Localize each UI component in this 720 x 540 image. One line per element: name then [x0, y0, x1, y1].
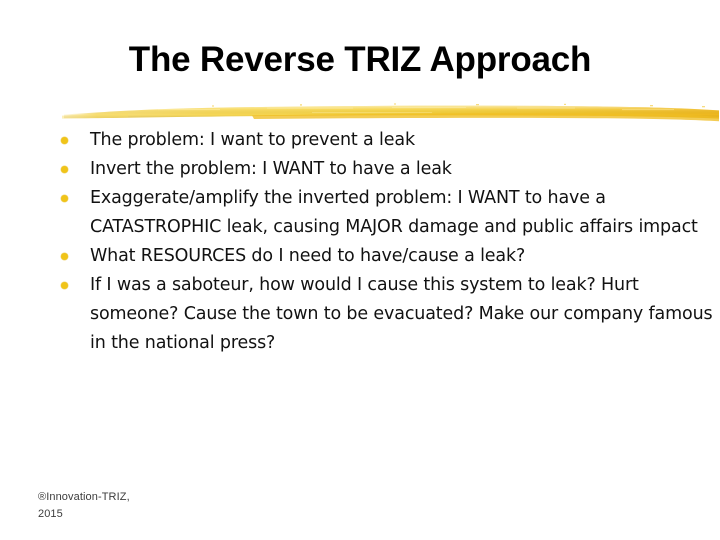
page-title: The Reverse TRIZ Approach	[0, 40, 720, 80]
footer-year-line: 2015	[38, 506, 130, 523]
list-item-label: If I was a saboteur, how would I cause t…	[90, 271, 713, 358]
list-item: Invert the problem: I WANT to have a lea…	[58, 155, 713, 184]
list-item: Exaggerate/amplify the inverted problem:…	[58, 184, 713, 242]
brush-spatter	[212, 103, 705, 107]
brush-stroke-icon	[62, 100, 720, 126]
slide-canvas: The Reverse TRIZ Approach	[0, 0, 720, 540]
brush-stroke-divider	[62, 100, 720, 126]
brush-streaks	[158, 107, 674, 113]
brush-left-feather	[62, 113, 128, 119]
list-item-label: What RESOURCES do I need to have/cause a…	[90, 242, 713, 271]
list-item: What RESOURCES do I need to have/cause a…	[58, 242, 713, 271]
footer-copyright-line: ®Innovation-TRIZ,	[38, 489, 130, 506]
bullet-dot-icon	[61, 195, 68, 202]
list-item-label: Invert the problem: I WANT to have a lea…	[90, 155, 713, 184]
brush-shading	[64, 106, 719, 119]
list-item: If I was a saboteur, how would I cause t…	[58, 271, 713, 358]
bullet-dot-icon	[61, 166, 68, 173]
brush-body	[64, 106, 719, 119]
slide-footer: ®Innovation-TRIZ, 2015	[38, 489, 130, 523]
list-item-label: Exaggerate/amplify the inverted problem:…	[90, 184, 713, 242]
bullet-dot-icon	[61, 137, 68, 144]
brush-lower-ridge	[252, 113, 719, 121]
bullet-dot-icon	[61, 282, 68, 289]
bullet-list: The problem: I want to prevent a leak In…	[58, 126, 713, 358]
bullet-dot-icon	[61, 253, 68, 260]
list-item-label: The problem: I want to prevent a leak	[90, 126, 713, 155]
list-item: The problem: I want to prevent a leak	[58, 126, 713, 155]
